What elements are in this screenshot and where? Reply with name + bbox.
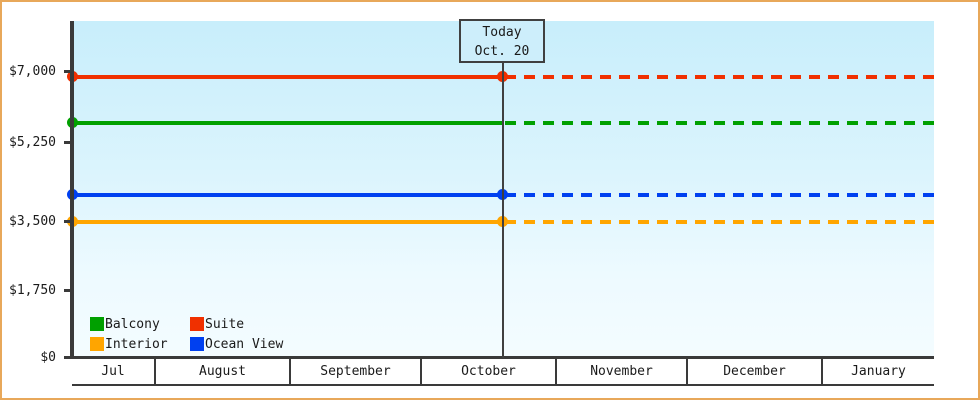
y-axis-label-0: $0 [0,351,56,364]
today-callout-line1: Today [461,23,543,42]
series-line-oceanview-actual [73,193,503,197]
legend-item-suite[interactable]: Suite [190,314,283,334]
y-tick-5250 [64,141,73,144]
y-axis-label-5250: $5,250 [0,136,56,149]
series-line-oceanview-forecast [505,193,934,197]
series-line-balcony-forecast [505,121,934,125]
y-tick-1750 [64,289,73,292]
legend-item-interior[interactable]: Interior [90,334,190,354]
today-vertical-line [502,62,504,358]
y-axis-label-7000: $7,000 [0,65,56,78]
month-cell-january[interactable]: January [823,359,934,384]
y-axis-label-1750: $1,750 [0,284,56,297]
y-tick-3500 [64,220,73,223]
series-line-suite-forecast [505,75,934,79]
series-line-interior-forecast [505,220,934,224]
month-cell-october[interactable]: October [422,359,557,384]
series-line-interior-actual [73,220,503,224]
month-cell-december[interactable]: December [688,359,823,384]
legend-label-balcony: Balcony [105,317,160,332]
y-tick-7000 [64,70,73,73]
y-axis-label-3500: $3,500 [0,215,56,228]
today-callout: Today Oct. 20 [459,19,545,63]
legend-label-interior: Interior [105,337,168,352]
legend-label-ocean-view: Ocean View [205,337,283,352]
legend-swatch-balcony [90,317,104,331]
month-axis: Jul August September October November De… [72,359,934,386]
month-cell-august[interactable]: August [156,359,291,384]
series-line-suite-actual [73,75,503,79]
cruise-price-chart: $7,000 $5,250 $3,500 $1,750 $0 Today Oct… [0,0,980,400]
month-cell-november[interactable]: November [557,359,688,384]
legend-item-balcony[interactable]: Balcony [90,314,190,334]
series-line-balcony-actual [73,121,503,125]
legend-swatch-ocean-view [190,337,204,351]
month-cell-jul[interactable]: Jul [72,359,156,384]
legend-label-suite: Suite [205,317,244,332]
legend: Balcony Suite Interior Ocean View [90,314,283,354]
legend-item-ocean-view[interactable]: Ocean View [190,334,283,354]
legend-swatch-interior [90,337,104,351]
legend-swatch-suite [190,317,204,331]
month-cell-september[interactable]: September [291,359,422,384]
today-callout-line2: Oct. 20 [461,42,543,61]
